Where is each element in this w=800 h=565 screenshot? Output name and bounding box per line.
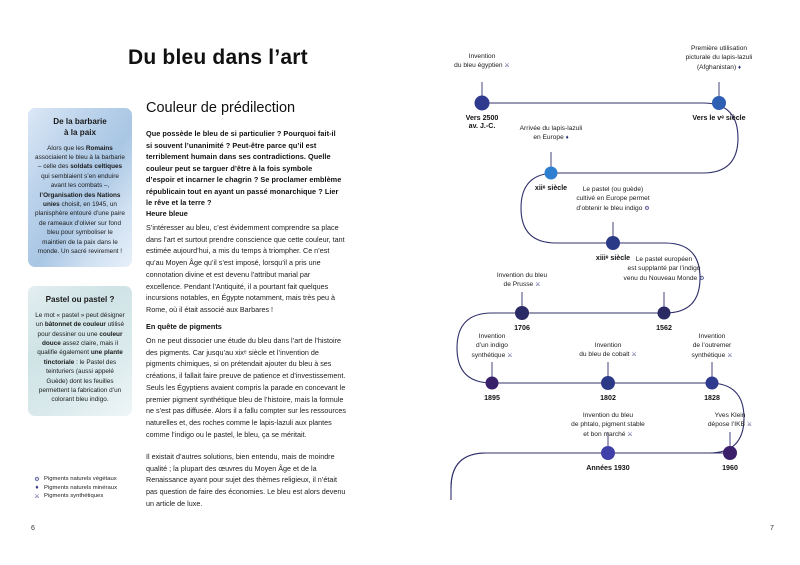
legend-item: ⚔ Pigments synthétiques <box>33 494 117 500</box>
sidebar-box-barbarie: De la barbarieà la paix Alors que les Ro… <box>28 108 132 267</box>
caption-line: Inventiond’un indigosynthétique <box>472 333 508 359</box>
timeline-date: 1562 <box>656 324 672 332</box>
mineral-icon: ♦ <box>33 485 41 491</box>
timeline-node[interactable] <box>486 377 499 390</box>
caption-line: Arrivée du lapis-lazulien Europe <box>520 125 583 141</box>
timeline-node[interactable] <box>515 306 529 320</box>
sidebar-box-text: Le mot « pastel » peut désigner un bâton… <box>35 311 125 405</box>
lead-paragraph: Que possède le bleu de si particulier ? … <box>146 128 342 209</box>
timeline-date: Années 1930 <box>586 464 629 472</box>
paragraph-article-de-luxe: Il existait d’autres solutions, bien ent… <box>146 451 346 510</box>
plant-icon: ⚙ <box>33 477 41 483</box>
folio-left: 6 <box>31 525 35 532</box>
timeline-node[interactable] <box>601 446 615 460</box>
subhead-heure-bleue: Heure bleue <box>146 209 188 218</box>
timeline-caption: Inventiondu bleu égyptien ⚔ <box>454 52 510 71</box>
timeline-node[interactable] <box>658 307 671 320</box>
sidebar-box-title: De la barbarieà la paix <box>35 117 125 139</box>
caption-line: Le pastel (ou guède)cultivé en Europe pe… <box>576 186 649 212</box>
legend-label: Pigments synthétiques <box>44 494 103 500</box>
timeline-caption: Inventiondu bleu de cobalt ⚔ <box>579 341 636 360</box>
timeline-caption: Invention du bleude phtalo, pigment stab… <box>571 411 645 439</box>
timeline-date: 1828 <box>704 394 720 402</box>
mineral-icon: ♦ <box>738 65 741 71</box>
caption-line: Inventiondu bleu égyptien <box>454 53 502 69</box>
pigment-legend: ⚙ Pigments naturels végétaux ♦ Pigments … <box>33 477 117 502</box>
caption-line: Première utilisationpicturale du lapis-l… <box>686 45 753 71</box>
caption-line: Le pastel européenest supplanté par l’in… <box>624 256 701 282</box>
timeline-date: 1706 <box>514 324 530 332</box>
paragraph-heure-bleue: S’intéresser au bleu, c’est évidemment c… <box>146 222 346 316</box>
book-spread: Du bleu dans l’art Couleur de prédilecti… <box>0 0 800 565</box>
timeline-caption: Le pastel européenest supplanté par l’in… <box>624 255 705 283</box>
legend-label: Pigments naturels minéraux <box>44 486 117 492</box>
flask-icon: ⚔ <box>631 352 636 358</box>
plant-icon: ⚙ <box>644 206 649 212</box>
timeline-caption: Inventionde l’outremersynthétique ⚔ <box>692 332 733 360</box>
folio-right: 7 <box>770 525 774 532</box>
caption-line: Yves Kleindépose l’IKB <box>708 412 746 428</box>
mineral-icon: ♦ <box>566 135 569 141</box>
legend-item: ♦ Pigments naturels minéraux <box>33 485 117 491</box>
sidebar-box-text: Alors que les Romains associaient le ble… <box>35 144 125 257</box>
timeline-node[interactable] <box>475 96 490 111</box>
flask-icon: ⚔ <box>504 63 509 69</box>
caption-line: Inventiondu bleu de cobalt <box>579 342 629 358</box>
timeline-node[interactable] <box>723 446 737 460</box>
flask-icon: ⚔ <box>507 353 512 359</box>
flask-icon: ⚔ <box>627 432 632 438</box>
timeline-caption: Arrivée du lapis-lazulien Europe ♦ <box>520 124 583 143</box>
plant-icon: ⚙ <box>699 276 704 282</box>
timeline-date: 1960 <box>722 464 738 472</box>
legend-item: ⚙ Pigments naturels végétaux <box>33 477 117 483</box>
timeline-date: 1895 <box>484 394 500 402</box>
timeline-caption: Inventiond’un indigosynthétique ⚔ <box>472 332 513 360</box>
flask-icon: ⚔ <box>747 422 752 428</box>
timeline-caption: Première utilisationpicturale du lapis-l… <box>686 44 753 72</box>
timeline-date: xiiᵉ siècle <box>535 184 567 192</box>
section-title: Couleur de prédilection <box>146 100 295 116</box>
timeline-date: Vers le vᵉ siècle <box>692 114 745 122</box>
legend-label: Pigments naturels végétaux <box>44 477 117 483</box>
timeline-caption: Invention du bleude Prusse ⚔ <box>497 271 547 290</box>
subhead-en-quete-de-pigments: En quête de pigments <box>146 322 222 331</box>
right-page: 7 <box>400 0 800 565</box>
flask-icon: ⚔ <box>33 494 41 500</box>
flask-icon: ⚔ <box>535 282 540 288</box>
caption-line: Invention du bleude phtalo, pigment stab… <box>571 412 645 438</box>
timeline-date: Vers 2500av. J.-C. <box>466 114 499 130</box>
timeline-node[interactable] <box>545 167 558 180</box>
timeline-node[interactable] <box>712 96 726 110</box>
timeline-node[interactable] <box>706 377 719 390</box>
timeline-caption: Le pastel (ou guède)cultivé en Europe pe… <box>576 185 649 213</box>
paragraph-en-quete-de-pigments: On ne peut dissocier une étude du bleu d… <box>146 335 346 441</box>
sidebar-box-title: Pastel ou pastel ? <box>35 295 125 306</box>
left-page: Du bleu dans l’art Couleur de prédilecti… <box>0 0 400 565</box>
caption-line: Inventionde l’outremersynthétique <box>692 333 732 359</box>
page-title: Du bleu dans l’art <box>128 46 308 70</box>
sidebar-box-pastel: Pastel ou pastel ? Le mot « pastel » peu… <box>28 286 132 416</box>
timeline-date: 1802 <box>600 394 616 402</box>
timeline-node[interactable] <box>601 376 615 390</box>
timeline-node[interactable] <box>606 236 620 250</box>
timeline-caption: Yves Kleindépose l’IKB ⚔ <box>708 411 752 430</box>
flask-icon: ⚔ <box>727 353 732 359</box>
